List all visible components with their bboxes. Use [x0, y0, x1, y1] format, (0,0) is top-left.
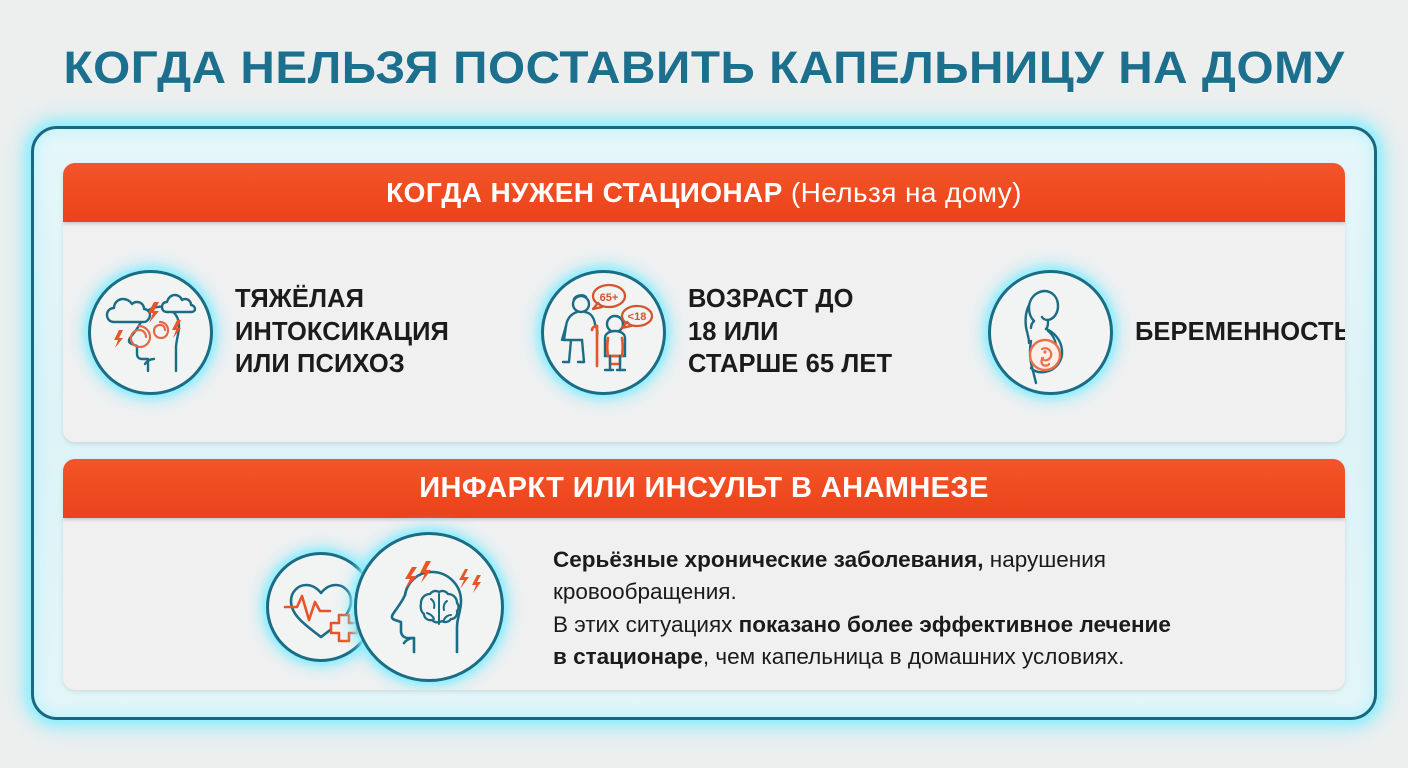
- paragraph-line-1-bold: Серьёзные хронические заболевания,: [553, 547, 984, 572]
- section-hospital-required: КОГДА НУЖЕН СТАЦИОНАР (Нельзя на дому): [63, 163, 1345, 442]
- section-2-content-row: Серьёзные хронические заболевания, наруш…: [63, 518, 1345, 690]
- elderly-and-child-age-icon: 65+ <18: [541, 270, 666, 395]
- paragraph-line-4-rest: , чем капельница в домашних условиях.: [703, 644, 1124, 669]
- section-1-header-light: (Нельзя на дому): [783, 177, 1022, 208]
- section-1-header-band: КОГДА НУЖЕН СТАЦИОНАР (Нельзя на дому): [63, 163, 1345, 222]
- section-1-cards-row: ТЯЖЁЛАЯ ИНТОКСИКАЦИЯ ИЛИ ПСИХОЗ: [63, 222, 1345, 442]
- card-age-restriction: 65+ <18 ВОЗРАСТ ДО 18 ИЛИ СТАРШЕ 65 ЛЕТ: [541, 222, 892, 442]
- head-intoxication-psychosis-icon: [88, 270, 213, 395]
- section-1-header-bold: КОГДА НУЖЕН СТАЦИОНАР: [386, 177, 783, 208]
- section-2-icon-group: [266, 532, 516, 682]
- section-2-header-band: ИНФАРКТ ИЛИ ИНСУЛЬТ В АНАМНЕЗЕ: [63, 459, 1345, 518]
- svg-text:65+: 65+: [599, 292, 618, 304]
- head-brain-stroke-icon: [354, 532, 504, 682]
- paragraph-line-1: Серьёзные хронические заболевания, наруш…: [553, 544, 1313, 576]
- infographic-frame: КОГДА НУЖЕН СТАЦИОНАР (Нельзя на дому): [31, 126, 1377, 720]
- paragraph-line-2: кровообращения.: [553, 576, 1313, 608]
- svg-text:<18: <18: [627, 311, 646, 323]
- card-pregnancy: БЕРЕМЕННОСТЬ: [988, 222, 1345, 442]
- paragraph-line-4: в стационаре, чем капельница в домашних …: [553, 641, 1313, 673]
- pregnant-woman-icon: [988, 270, 1113, 395]
- paragraph-line-1-rest: нарушения: [984, 547, 1106, 572]
- paragraph-line-3-bold: показано более эффективное лечение: [739, 612, 1171, 637]
- section-heart-attack-stroke: ИНФАРКТ ИЛИ ИНСУЛЬТ В АНАМНЕЗЕ: [63, 459, 1345, 690]
- paragraph-line-4-bold: в стационаре: [553, 644, 703, 669]
- card-age-restriction-label: ВОЗРАСТ ДО 18 ИЛИ СТАРШЕ 65 ЛЕТ: [688, 283, 892, 382]
- paragraph-line-3: В этих ситуациях показано более эффектив…: [553, 609, 1313, 641]
- page-title: КОГДА НЕЛЬЗЯ ПОСТАВИТЬ КАПЕЛЬНИЦУ НА ДОМ…: [0, 42, 1408, 94]
- card-pregnancy-label: БЕРЕМЕННОСТЬ: [1135, 316, 1345, 349]
- section-1-header-text: КОГДА НУЖЕН СТАЦИОНАР (Нельзя на дому): [386, 177, 1022, 209]
- section-2-header-text: ИНФАРКТ ИЛИ ИНСУЛЬТ В АНАМНЕЗЕ: [419, 472, 989, 505]
- card-intoxication-psychosis-label: ТЯЖЁЛАЯ ИНТОКСИКАЦИЯ ИЛИ ПСИХОЗ: [235, 283, 449, 382]
- section-2-paragraph: Серьёзные хронические заболевания, наруш…: [553, 544, 1313, 674]
- card-intoxication-psychosis: ТЯЖЁЛАЯ ИНТОКСИКАЦИЯ ИЛИ ПСИХОЗ: [88, 222, 449, 442]
- paragraph-line-3-plain: В этих ситуациях: [553, 612, 739, 637]
